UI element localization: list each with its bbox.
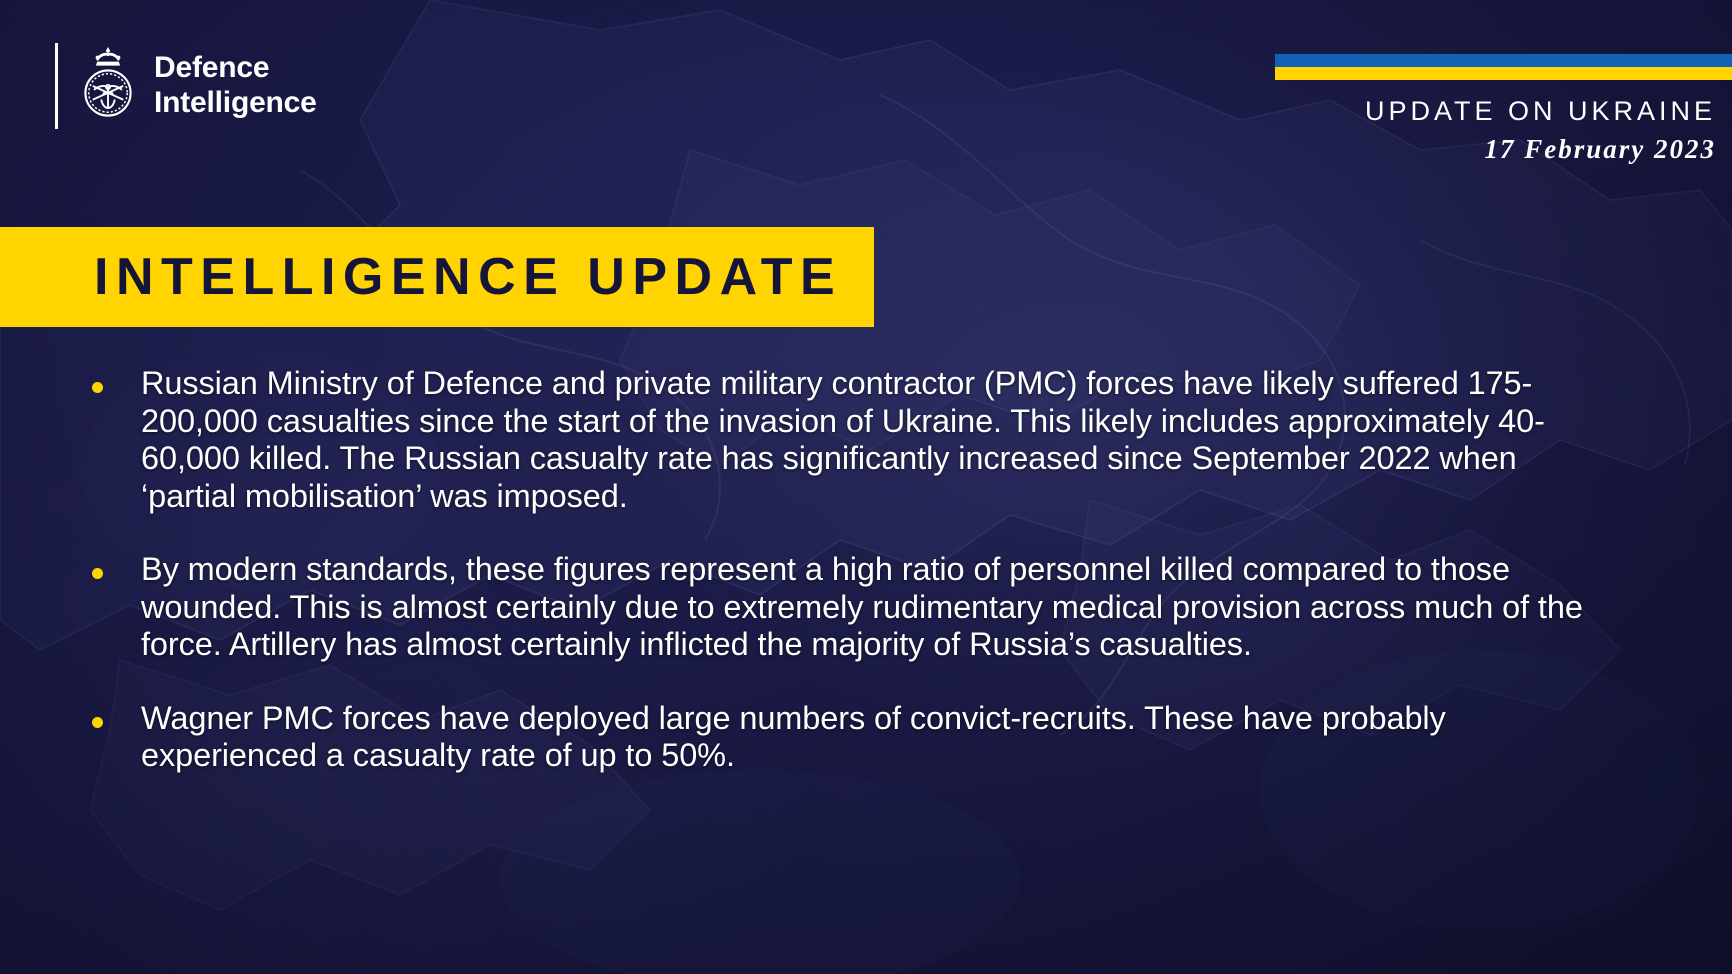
list-item: By modern standards, these figures repre… xyxy=(92,551,1652,664)
flag-stripe-blue xyxy=(1275,54,1732,67)
logo-line-intelligence: Intelligence xyxy=(154,86,317,121)
bullet-dot-icon xyxy=(92,568,103,579)
banner-label: INTELLIGENCE UPDATE xyxy=(0,247,842,307)
bullet-dot-icon xyxy=(92,717,103,728)
bullet-list: Russian Ministry of Defence and private … xyxy=(92,365,1652,775)
ukraine-flag-bar-icon xyxy=(1275,54,1732,80)
flag-stripe-yellow xyxy=(1275,67,1732,80)
defence-intelligence-logo: Defence Intelligence xyxy=(55,40,317,132)
update-date: 17 February 2023 xyxy=(1484,134,1716,165)
logo-divider-rule xyxy=(55,43,58,129)
logo-line-defence: Defence xyxy=(154,51,317,86)
bullet-text: By modern standards, these figures repre… xyxy=(141,551,1611,664)
mod-crest-icon xyxy=(80,44,136,128)
bullet-dot-icon xyxy=(92,382,103,393)
bullet-text: Wagner PMC forces have deployed large nu… xyxy=(141,700,1611,775)
intelligence-update-banner: INTELLIGENCE UPDATE xyxy=(0,227,874,327)
logo-wordmark: Defence Intelligence xyxy=(154,51,317,121)
list-item: Wagner PMC forces have deployed large nu… xyxy=(92,700,1652,775)
bullet-text: Russian Ministry of Defence and private … xyxy=(141,365,1611,515)
list-item: Russian Ministry of Defence and private … xyxy=(92,365,1652,515)
update-title: UPDATE ON UKRAINE xyxy=(1365,96,1716,127)
intelligence-update-slide: Defence Intelligence UPDATE ON UKRAINE 1… xyxy=(0,0,1732,974)
